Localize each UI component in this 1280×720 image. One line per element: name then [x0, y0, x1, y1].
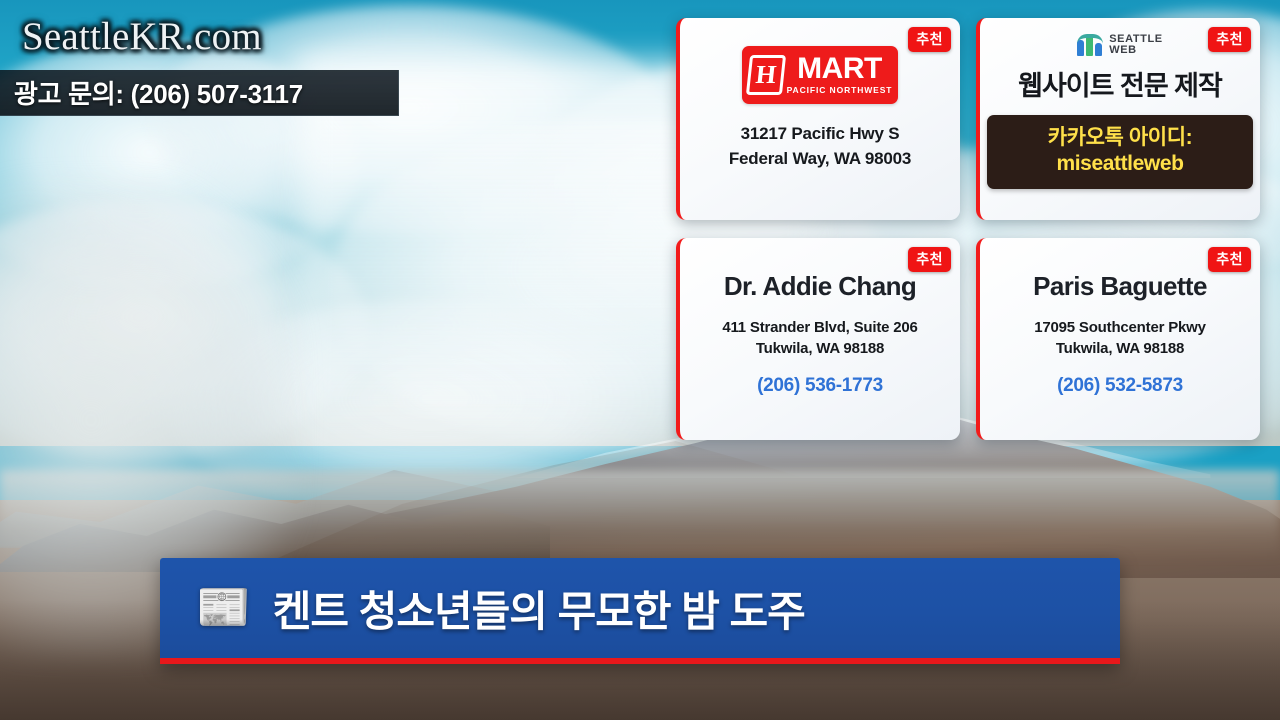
address-line-2: Federal Way, WA 98003 — [729, 147, 911, 172]
news-headline-banner[interactable]: 📰 켄트 청소년들의 무모한 밤 도주 — [160, 558, 1120, 664]
sponsor-card-seattleweb[interactable]: 추천 SEATTLE WEB 웹사이트 전문 제작 카카오톡 아이디: mise… — [976, 18, 1260, 220]
seattleweb-name-line2: WEB — [1109, 45, 1163, 56]
newspaper-icon: 📰 — [196, 586, 251, 630]
hmart-h-mark: H — [745, 55, 785, 95]
ad-contact-text: 광고 문의: (206) 507-3117 — [14, 74, 303, 111]
recommended-badge: 추천 — [908, 247, 951, 272]
business-title: Paris Baguette — [1033, 272, 1207, 301]
address-line-2: Tukwila, WA 98188 — [1034, 338, 1206, 359]
seattleweb-logo: SEATTLE WEB — [1077, 34, 1163, 56]
hmart-wordmark: MART — [797, 55, 882, 84]
branding-block: SeattleKR.com 광고 문의: (206) 507-3117 — [0, 12, 399, 116]
kakao-id: miseattleweb — [993, 151, 1247, 177]
news-card-overlay-screen: SeattleKR.com 광고 문의: (206) 507-3117 추천 H… — [0, 0, 1280, 720]
address-line-1: 17095 Southcenter Pkwy — [1034, 317, 1206, 338]
business-phone[interactable]: (206) 532-5873 — [1057, 375, 1183, 397]
business-title: Dr. Addie Chang — [724, 272, 916, 301]
address-line-2: Tukwila, WA 98188 — [722, 338, 917, 359]
address-line-1: 411 Strander Blvd, Suite 206 — [722, 317, 917, 338]
business-address: 17095 Southcenter Pkwy Tukwila, WA 98188 — [1034, 317, 1206, 359]
kakao-label: 카카오톡 아이디: — [993, 125, 1247, 151]
sponsor-card-grid: 추천 H MART PACIFIC NORTHWEST 31217 Pacifi… — [676, 18, 1260, 440]
hmart-logo: H MART PACIFIC NORTHWEST — [742, 46, 898, 104]
kakao-contact-box[interactable]: 카카오톡 아이디: miseattleweb — [987, 115, 1253, 188]
ad-contact-bar[interactable]: 광고 문의: (206) 507-3117 — [0, 70, 399, 116]
seattleweb-headline: 웹사이트 전문 제작 — [1018, 64, 1222, 103]
recommended-badge: 추천 — [908, 27, 951, 52]
sponsor-card-hmart[interactable]: 추천 H MART PACIFIC NORTHWEST 31217 Pacifi… — [676, 18, 960, 220]
sponsor-card-addie-chang[interactable]: 추천 Dr. Addie Chang 411 Strander Blvd, Su… — [676, 238, 960, 440]
recommended-badge: 추천 — [1208, 247, 1251, 272]
site-logo[interactable]: SeattleKR.com — [12, 12, 272, 63]
address-line-1: 31217 Pacific Hwy S — [729, 122, 911, 147]
sponsor-card-paris-baguette[interactable]: 추천 Paris Baguette 17095 Southcenter Pkwy… — [976, 238, 1260, 440]
seattleweb-mark-icon — [1077, 34, 1103, 56]
hmart-address: 31217 Pacific Hwy S Federal Way, WA 9800… — [729, 122, 911, 171]
business-phone[interactable]: (206) 536-1773 — [757, 375, 883, 397]
recommended-badge: 추천 — [1208, 27, 1251, 52]
hmart-region-label: PACIFIC NORTHWEST — [787, 85, 893, 95]
news-headline-text: 켄트 청소년들의 무모한 밤 도주 — [273, 578, 805, 639]
business-address: 411 Strander Blvd, Suite 206 Tukwila, WA… — [722, 317, 917, 359]
